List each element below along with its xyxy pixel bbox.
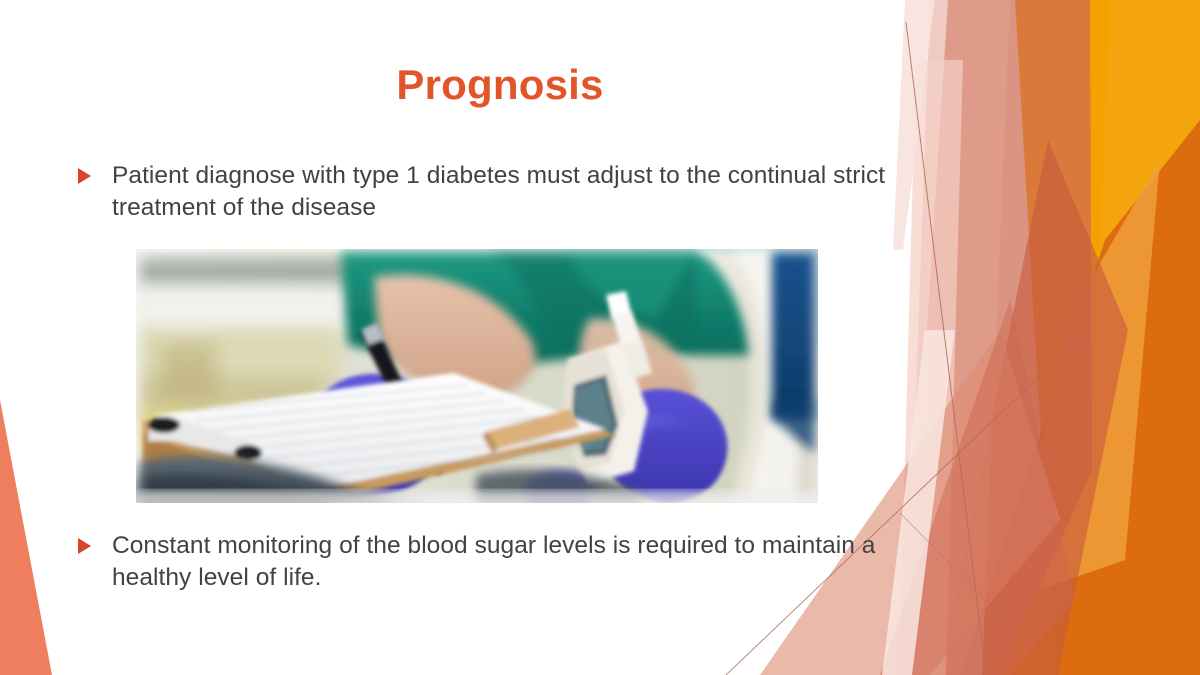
deco-left-corner-triangle — [0, 400, 52, 675]
deco-amber-field — [1015, 0, 1200, 675]
slide-title: Prognosis — [60, 62, 940, 108]
diabetes-clipboard-glucometer-photo — [136, 249, 818, 503]
bullet-1-text: Patient diagnose with type 1 diabetes mu… — [112, 160, 923, 225]
deco-amber-shade-a — [1096, 0, 1200, 330]
photo-edge-fade — [136, 249, 818, 503]
bullet-item-1: Patient diagnose with type 1 diabetes mu… — [78, 160, 923, 225]
deco-hairline-3 — [900, 513, 1060, 675]
deco-amber-translucent-sliver — [1010, 160, 1160, 600]
bullet-item-2: Constant monitoring of the blood sugar l… — [78, 530, 923, 595]
deco-salmon-lower-left-2 — [880, 300, 1075, 675]
deco-highlight-sliver-b — [882, 330, 955, 675]
deco-orange-lower-wedge — [960, 120, 1200, 675]
triangle-right-icon — [78, 160, 112, 184]
bullet-2-text: Constant monitoring of the blood sugar l… — [112, 530, 923, 595]
triangle-right-icon — [78, 530, 112, 554]
presentation-slide: Prognosis Patient diagnose with type 1 d… — [0, 0, 1200, 675]
deco-coral-band — [940, 140, 1128, 675]
